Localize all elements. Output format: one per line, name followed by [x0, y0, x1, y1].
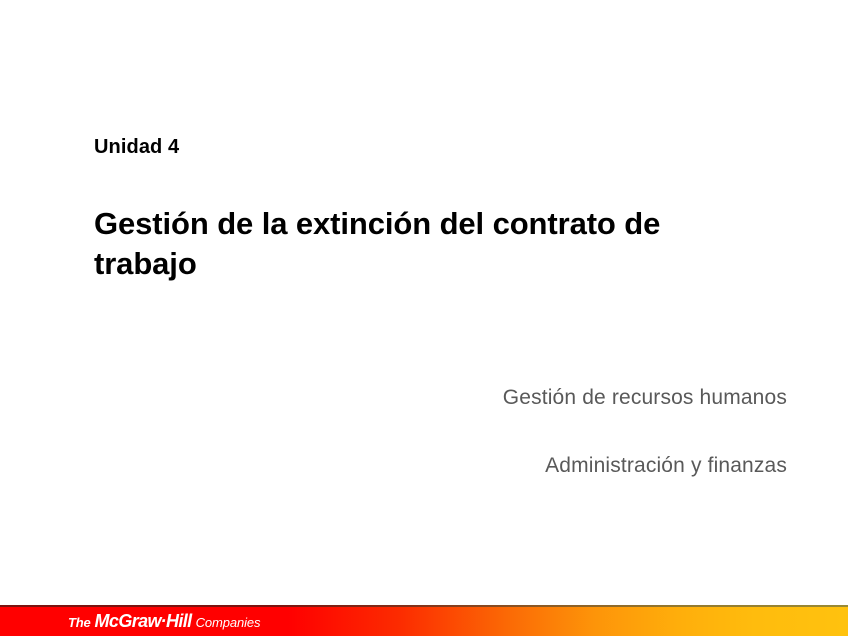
logo-word-the: The — [68, 615, 91, 630]
footer-gradient-bar: The McGraw · Hill Companies — [0, 607, 848, 636]
logo-word-companies: Companies — [196, 615, 261, 630]
subtitle-block: Gestión de recursos humanos Administraci… — [187, 385, 787, 480]
mcgraw-hill-logo: The McGraw · Hill Companies — [68, 611, 260, 632]
title-block: Unidad 4 Gestión de la extinción del con… — [94, 136, 774, 285]
subtitle-line-program: Administración y finanzas — [187, 453, 787, 479]
logo-word-mcgraw: McGraw — [95, 611, 161, 632]
logo-word-hill: Hill — [166, 611, 192, 632]
title-slide: Unidad 4 Gestión de la extinción del con… — [0, 0, 848, 636]
unit-label: Unidad 4 — [94, 136, 774, 158]
subtitle-line-course: Gestión de recursos humanos — [187, 385, 787, 411]
page-title: Gestión de la extinción del contrato de … — [94, 204, 754, 285]
